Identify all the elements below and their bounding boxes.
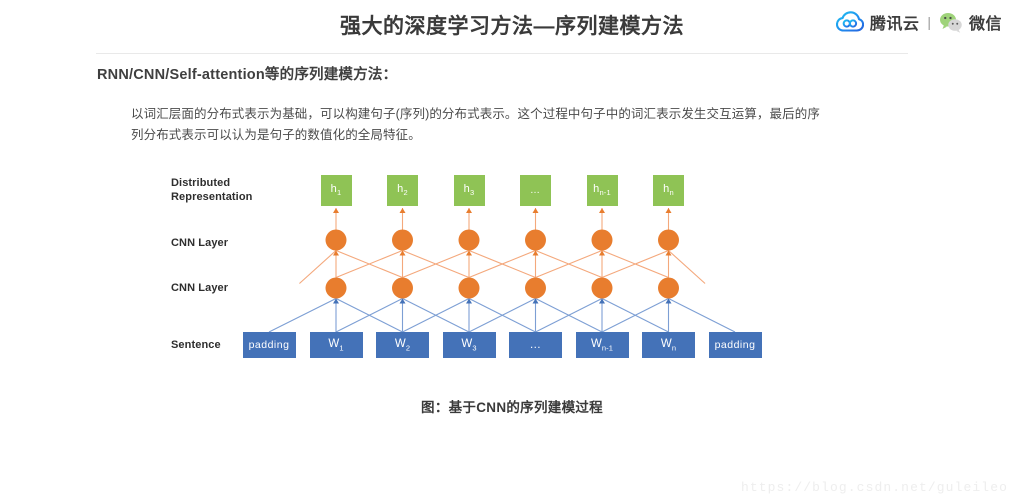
hidden-node: hn-1: [587, 175, 618, 206]
diagram-caption: 图：基于CNN的序列建模过程: [0, 396, 1024, 416]
label-cnn-layer-top: CNN Layer: [171, 236, 228, 250]
wechat-label: 微信: [969, 10, 1002, 34]
label-distributed-line2: Representation: [171, 190, 291, 204]
cnn-node-bottom: [525, 278, 546, 299]
label-sentence: Sentence: [171, 338, 221, 352]
brand-separator: |: [927, 14, 931, 30]
word-node: W1: [310, 332, 363, 358]
slide-page: 强大的深度学习方法—序列建模方法 腾讯云 |: [0, 0, 1024, 503]
cnn-sequence-diagram: Distributed Representation CNN Layer CNN…: [0, 160, 1024, 375]
cnn-node-bottom: [459, 278, 480, 299]
label-distributed-line1: Distributed: [171, 176, 291, 190]
header-divider: [96, 53, 908, 54]
hidden-node: h1: [321, 175, 352, 206]
watermark: https://blog.csdn.net/guleileo: [741, 480, 1008, 495]
tencent-cloud-icon: [836, 11, 864, 33]
cnn-node-bottom: [326, 278, 347, 299]
cnn-node-top: [326, 230, 347, 251]
hidden-node: h3: [454, 175, 485, 206]
section-heading: RNN/CNN/Self-attention等的序列建模方法：: [97, 63, 397, 84]
word-node: W3: [443, 332, 496, 358]
padding-node: padding: [709, 332, 762, 358]
section-paragraph: 以词汇层面的分布式表示为基础，可以构建句子(序列)的分布式表示。这个过程中句子中…: [131, 104, 831, 146]
hidden-node: hn: [653, 175, 684, 206]
brand-bar: 腾讯云 | 微信: [836, 8, 1002, 36]
padding-node: padding: [243, 332, 296, 358]
word-node: …: [509, 332, 562, 358]
cnn-node-bottom: [592, 278, 613, 299]
cnn-node-top: [658, 230, 679, 251]
tencent-cloud-label: 腾讯云: [870, 10, 920, 34]
slide-header: 强大的深度学习方法—序列建模方法 腾讯云 |: [0, 0, 1024, 53]
wechat-icon: [939, 12, 963, 33]
word-node: Wn-1: [576, 332, 629, 358]
word-node: Wn: [642, 332, 695, 358]
cnn-node-top: [525, 230, 546, 251]
label-distributed-representation: Distributed Representation: [171, 176, 291, 204]
cnn-node-bottom: [392, 278, 413, 299]
cnn-node-bottom: [658, 278, 679, 299]
hidden-node: …: [520, 175, 551, 206]
word-node: W2: [376, 332, 429, 358]
cnn-node-top: [392, 230, 413, 251]
label-cnn-layer-bottom: CNN Layer: [171, 281, 228, 295]
cnn-node-top: [592, 230, 613, 251]
cnn-node-top: [459, 230, 480, 251]
hidden-node: h2: [387, 175, 418, 206]
